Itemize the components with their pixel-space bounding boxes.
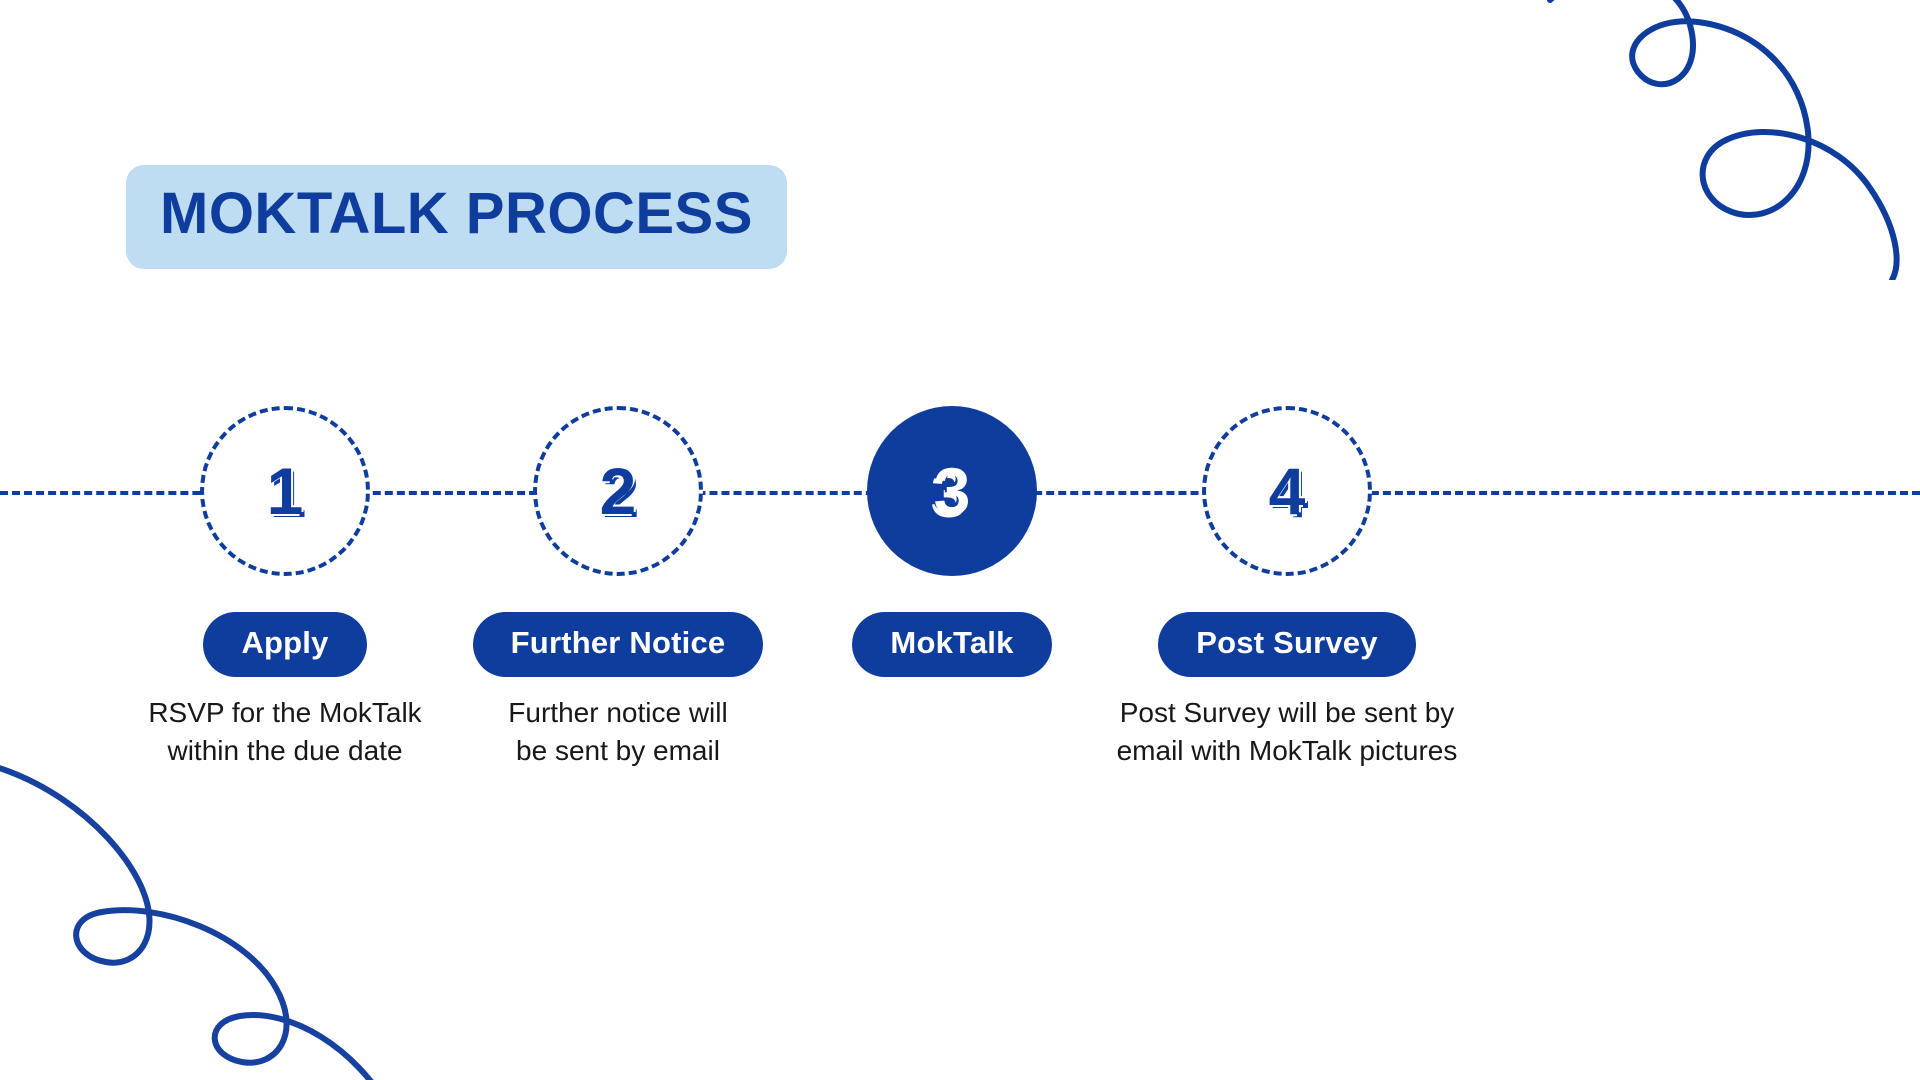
timeline-step-4[interactable]: 4 Post Survey Post Survey will be sent b…	[1117, 406, 1457, 770]
step-4-pill[interactable]: Post Survey	[1158, 612, 1415, 677]
process-timeline: 1 Apply RSVP for the MokTalk within the …	[0, 0, 1920, 1080]
step-1-pill[interactable]: Apply	[203, 612, 366, 677]
timeline-step-2[interactable]: 2 Further Notice Further notice will be …	[448, 406, 788, 770]
step-4-circle[interactable]: 4	[1202, 406, 1372, 576]
step-4-description: Post Survey will be sent by email with M…	[1117, 694, 1458, 770]
step-2-description-line-1: Further notice will	[508, 694, 727, 732]
step-2-description-line-2: be sent by email	[508, 732, 727, 770]
step-2-number: 2	[600, 458, 637, 524]
step-4-description-line-1: Post Survey will be sent by	[1117, 694, 1458, 732]
step-4-number: 4	[1269, 458, 1306, 524]
step-1-number: 1	[267, 458, 304, 524]
step-2-pill[interactable]: Further Notice	[473, 612, 764, 677]
step-3-pill[interactable]: MokTalk	[852, 612, 1051, 677]
slide-canvas: MOKTALK PROCESS 1 Apply RSVP for the Mok…	[0, 0, 1920, 1080]
step-2-description: Further notice will be sent by email	[508, 694, 727, 770]
timeline-step-3[interactable]: 3 MokTalk	[782, 406, 1122, 677]
step-3-number: 3	[934, 458, 971, 524]
step-1-circle[interactable]: 1	[200, 406, 370, 576]
step-1-description-line-2: within the due date	[148, 732, 421, 770]
step-2-circle[interactable]: 2	[533, 406, 703, 576]
step-3-circle[interactable]: 3	[867, 406, 1037, 576]
step-1-description: RSVP for the MokTalk within the due date	[148, 694, 421, 770]
step-1-description-line-1: RSVP for the MokTalk	[148, 694, 421, 732]
timeline-step-1[interactable]: 1 Apply RSVP for the MokTalk within the …	[115, 406, 455, 770]
step-4-description-line-2: email with MokTalk pictures	[1117, 732, 1458, 770]
